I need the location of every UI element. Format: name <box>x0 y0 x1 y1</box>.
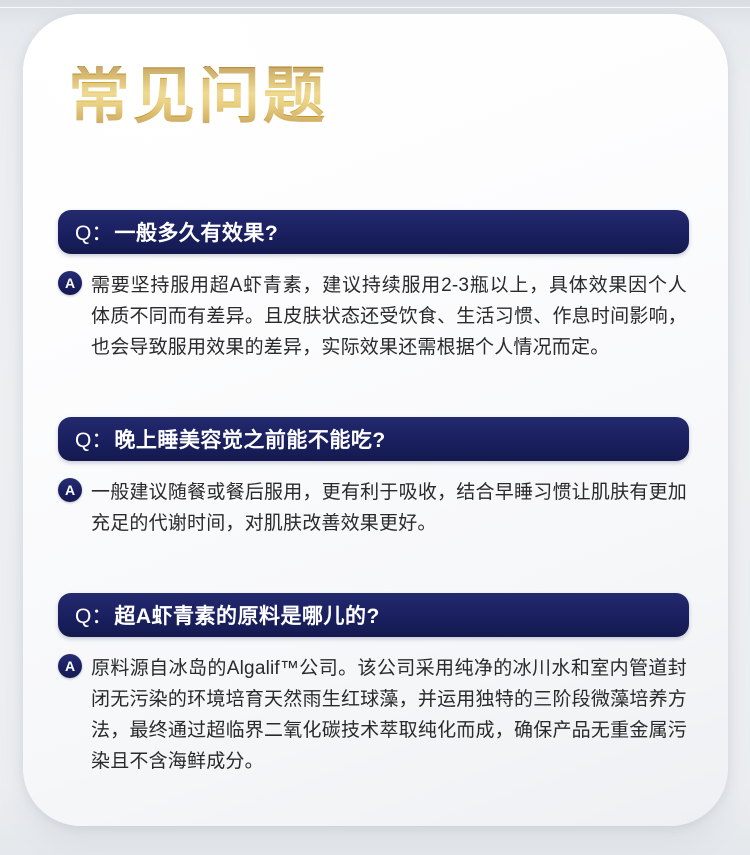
answer-text: 一般建议随餐或餐后服用，更有利于吸收，结合早睡习惯让肌肤有更加充足的代谢时间，对… <box>91 477 687 539</box>
question-prefix: Q： <box>75 424 112 454</box>
question-bar[interactable]: Q： 一般多久有效果? <box>58 210 689 254</box>
faq-item: Q： 一般多久有效果? A 需要坚持服用超A虾青素，建议持续服用2-3瓶以上，具… <box>23 210 728 363</box>
answer-block: A 原料源自冰岛的Algalif™公司。该公司采用纯净的冰川水和室内管道封闭无污… <box>58 637 698 777</box>
answer-text: 原料源自冰岛的Algalif™公司。该公司采用纯净的冰川水和室内管道封闭无污染的… <box>91 653 687 777</box>
answer-text: 需要坚持服用超A虾青素，建议持续服用2-3瓶以上，具体效果因个人体质不同而有差异… <box>91 270 687 363</box>
faq-page: 常见问题 Q： 一般多久有效果? A 需要坚持服用超A虾青素，建议持续服用2-3… <box>0 0 750 855</box>
faq-list: Q： 一般多久有效果? A 需要坚持服用超A虾青素，建议持续服用2-3瓶以上，具… <box>23 210 728 777</box>
question-text: 晚上睡美容觉之前能不能吃? <box>114 424 385 454</box>
faq-item: Q： 晚上睡美容觉之前能不能吃? A 一般建议随餐或餐后服用，更有利于吸收，结合… <box>23 417 728 539</box>
answer-block: A 一般建议随餐或餐后服用，更有利于吸收，结合早睡习惯让肌肤有更加充足的代谢时间… <box>58 461 698 539</box>
answer-block: A 需要坚持服用超A虾青素，建议持续服用2-3瓶以上，具体效果因个人体质不同而有… <box>58 254 698 363</box>
faq-card: 常见问题 Q： 一般多久有效果? A 需要坚持服用超A虾青素，建议持续服用2-3… <box>23 14 728 826</box>
page-title: 常见问题 <box>68 66 328 128</box>
answer-badge-icon: A <box>58 271 82 295</box>
faq-item: Q： 超A虾青素的原料是哪儿的? A 原料源自冰岛的Algalif™公司。该公司… <box>23 593 728 777</box>
question-bar[interactable]: Q： 晚上睡美容觉之前能不能吃? <box>58 417 689 461</box>
answer-badge-icon: A <box>58 478 82 502</box>
faq-spacer <box>23 363 728 417</box>
question-text: 超A虾青素的原料是哪儿的? <box>114 600 380 630</box>
question-text: 一般多久有效果? <box>114 217 278 247</box>
question-prefix: Q： <box>75 600 112 630</box>
top-divider <box>0 7 750 8</box>
answer-badge-icon: A <box>58 654 82 678</box>
faq-spacer <box>23 539 728 593</box>
question-prefix: Q： <box>75 217 112 247</box>
question-bar[interactable]: Q： 超A虾青素的原料是哪儿的? <box>58 593 689 637</box>
